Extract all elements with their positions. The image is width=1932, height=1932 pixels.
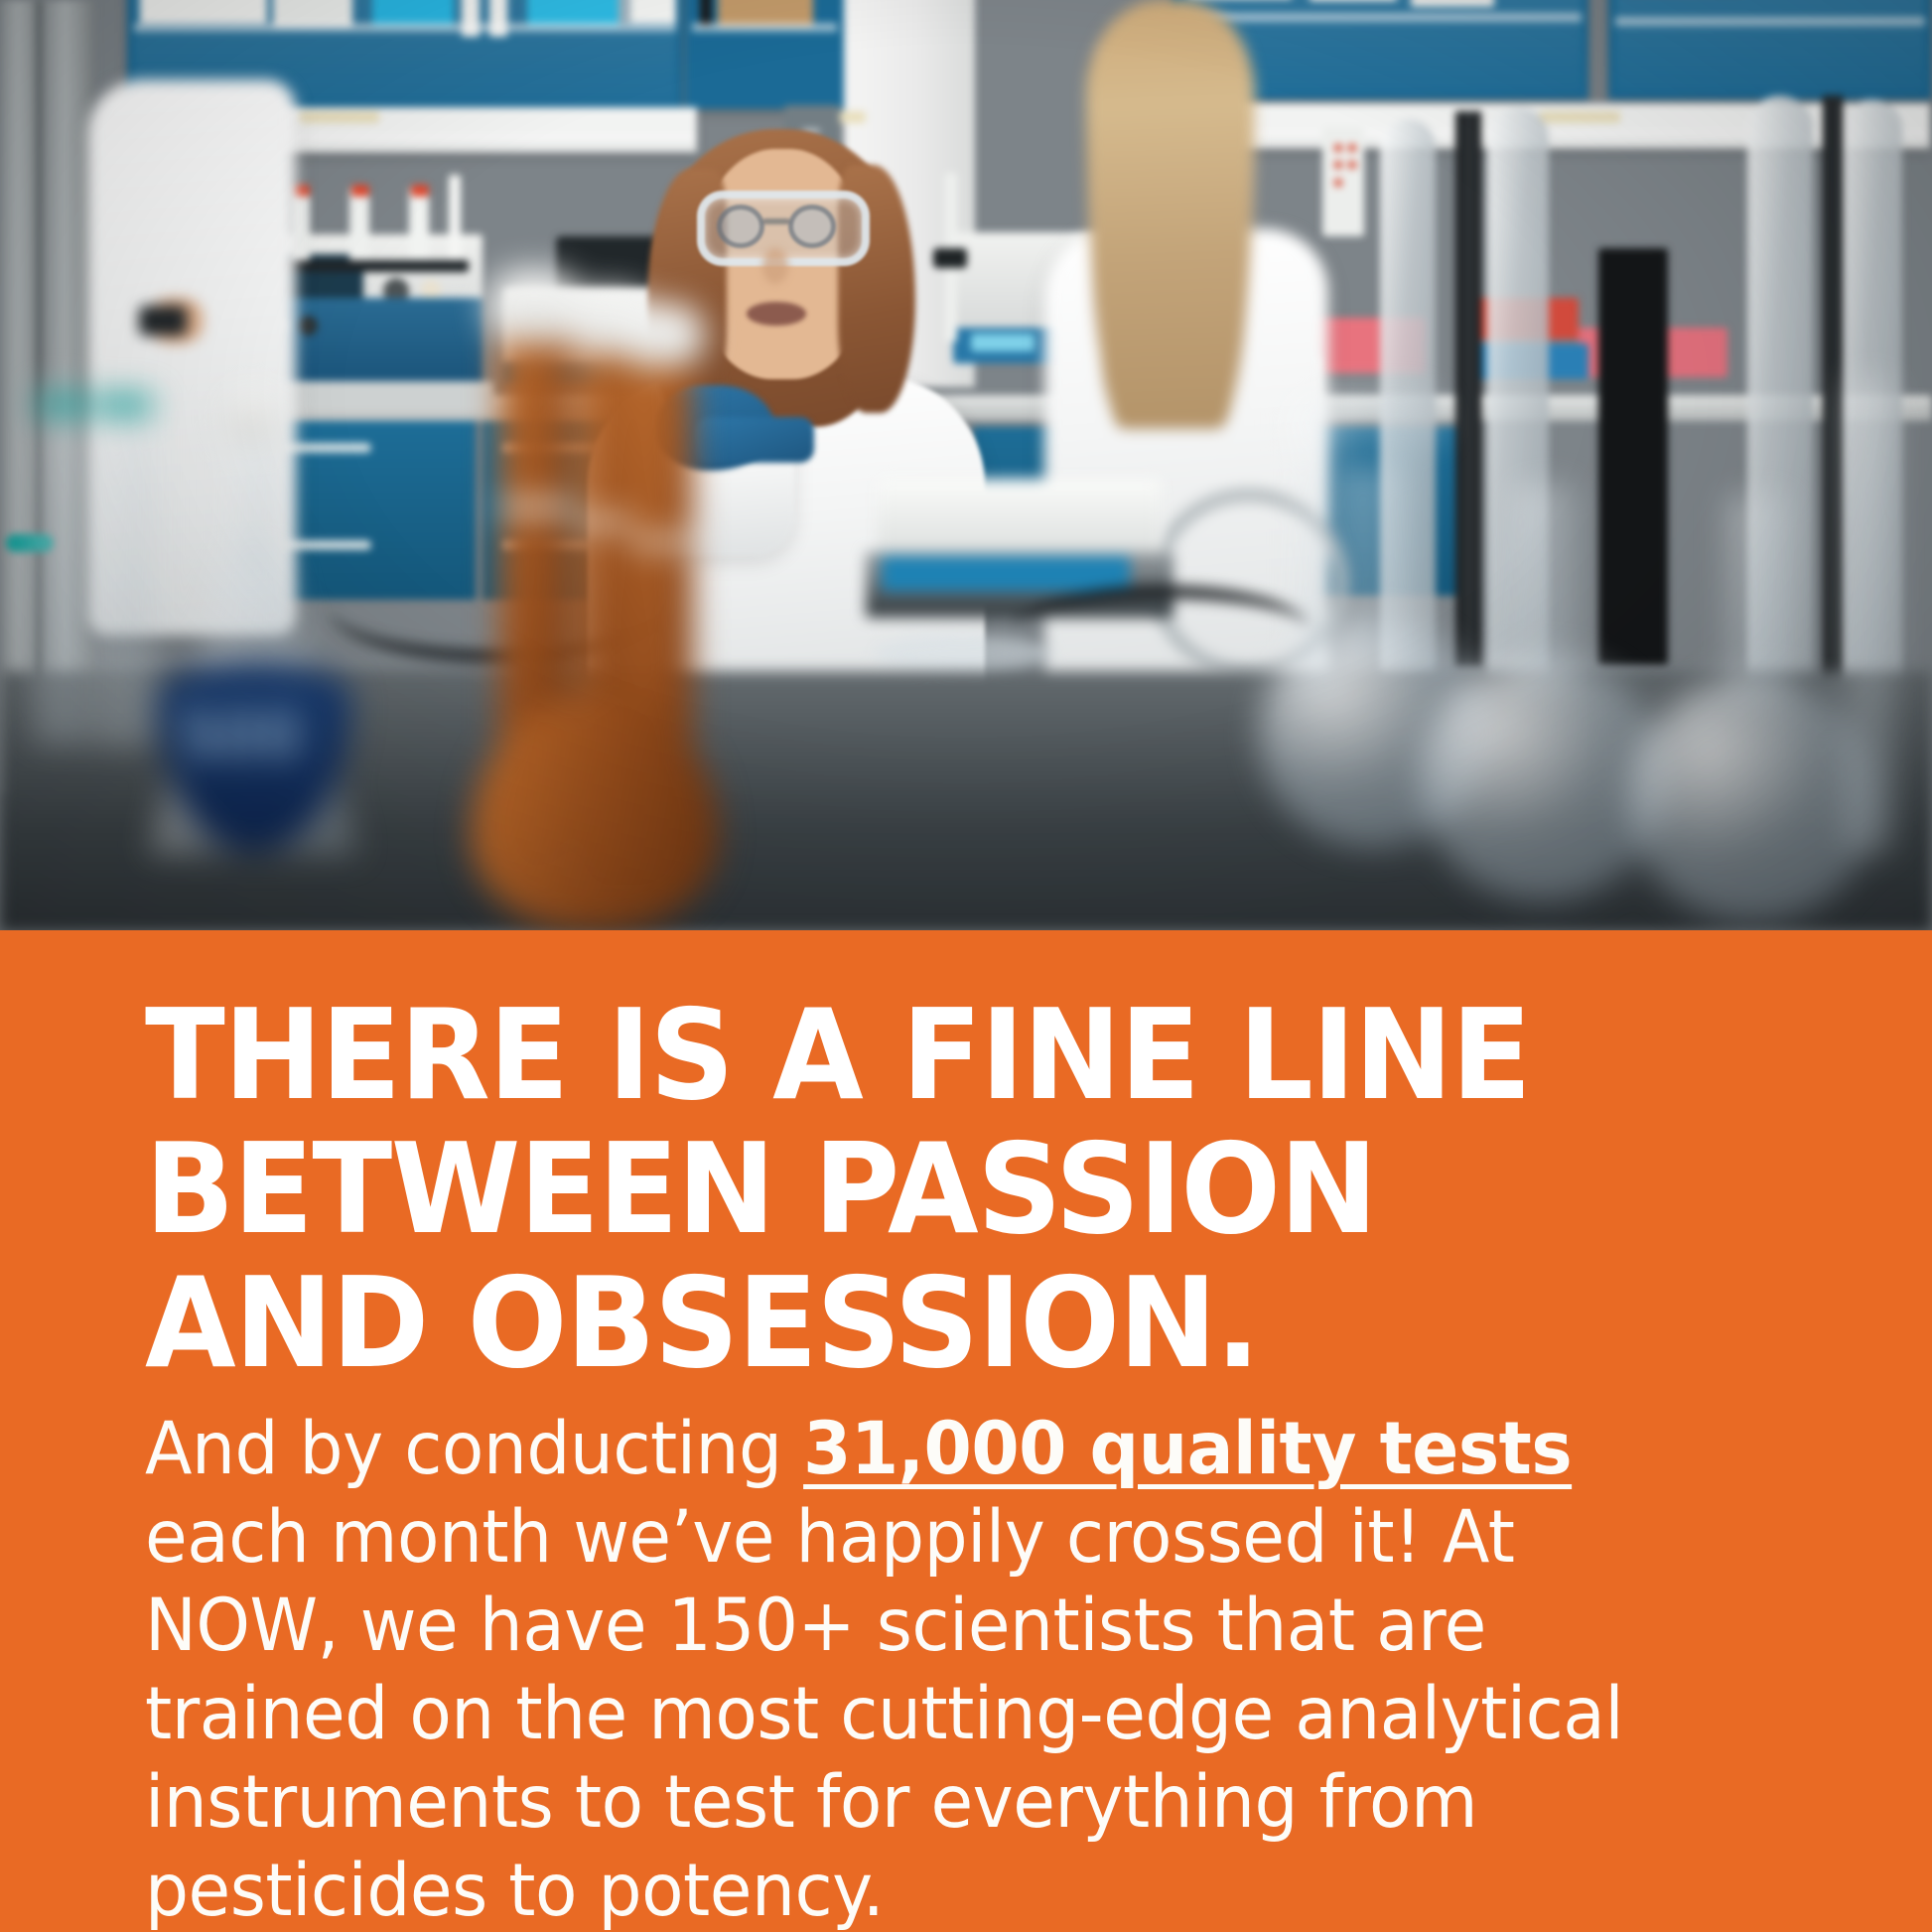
pipette-stand bbox=[349, 187, 369, 264]
flask-graduation-ring bbox=[498, 500, 572, 514]
cylinder-teal-band bbox=[36, 395, 91, 415]
cabinet-shelf bbox=[1615, 17, 1925, 26]
outlet-indicator bbox=[1348, 144, 1356, 152]
instrument-label bbox=[971, 334, 1035, 351]
pipette-stand bbox=[409, 187, 429, 264]
outlet-indicator bbox=[1334, 161, 1342, 169]
cabinet-contents bbox=[630, 0, 676, 23]
wall-cabinet-far-right bbox=[1608, 0, 1932, 99]
valance-light-left bbox=[298, 111, 379, 123]
graduated-cylinder bbox=[95, 417, 153, 745]
balance-instrument bbox=[878, 479, 1162, 558]
instrument-indicator bbox=[298, 316, 318, 336]
flask-neck bbox=[1346, 467, 1398, 655]
quality-tests-highlight: 31,000 quality tests bbox=[803, 1407, 1572, 1491]
outlet-indicator bbox=[1334, 179, 1342, 187]
cabinet-shelf bbox=[134, 23, 676, 32]
body-text-lead: And by conducting bbox=[145, 1407, 803, 1491]
equipment-rack-rail bbox=[1455, 111, 1481, 667]
cabinet-glass bbox=[1615, 0, 1925, 92]
flask-graduation-ring bbox=[631, 536, 693, 548]
condenser-arm bbox=[1291, 393, 1440, 437]
orange-text-panel: THERE IS A FINE LINE BETWEEN PASSION AND… bbox=[0, 930, 1932, 1932]
eyeglass-lens-left bbox=[717, 205, 764, 248]
pipette-tip bbox=[351, 185, 369, 197]
nitrile-glove-fingers bbox=[695, 417, 814, 463]
handheld-device bbox=[139, 306, 187, 336]
cabinet-contents bbox=[1411, 0, 1494, 7]
round-bottom-flask bbox=[1628, 675, 1876, 923]
cylinder-teal-band bbox=[97, 395, 153, 415]
flask-stopper bbox=[224, 389, 280, 441]
glass-rod bbox=[1847, 377, 1892, 854]
wall-cabinet-center bbox=[685, 0, 844, 109]
promo-poster: 500 bbox=[0, 0, 1932, 1932]
valance-light-far-right bbox=[1539, 111, 1620, 123]
flask-neck bbox=[1729, 496, 1787, 695]
instrument-knob bbox=[421, 280, 441, 300]
pipette-tip bbox=[411, 185, 429, 197]
pipette-stand bbox=[449, 175, 461, 264]
cabinet-shelf bbox=[1178, 13, 1582, 22]
cable bbox=[1013, 586, 1311, 675]
page-title: THERE IS A FINE LINE BETWEEN PASSION AND… bbox=[145, 988, 1731, 1390]
outlet-indicator bbox=[1334, 144, 1342, 152]
petri-dish bbox=[874, 635, 1052, 671]
hero-photo: 500 bbox=[0, 0, 1932, 930]
outlet-indicator bbox=[1348, 161, 1356, 169]
scientist-right-hair bbox=[1086, 0, 1255, 429]
flask-stopper bbox=[620, 304, 705, 367]
cabinet-contents bbox=[140, 0, 267, 23]
eyeglass-lens-right bbox=[788, 205, 836, 248]
shelf-rack-dark bbox=[1598, 248, 1668, 665]
condenser-tube bbox=[1299, 401, 1338, 699]
flask-neck bbox=[232, 427, 272, 576]
eyeglass-bridge bbox=[762, 218, 790, 224]
equipment-rack-rail bbox=[1823, 95, 1843, 691]
flask-neck bbox=[1517, 486, 1573, 685]
mouth bbox=[747, 302, 806, 326]
body-paragraph: And by conducting 31,000 quality tests e… bbox=[145, 1405, 1722, 1932]
cabinet-shelf bbox=[692, 23, 837, 32]
nose bbox=[762, 248, 788, 284]
wall-outlet-panel bbox=[1322, 127, 1364, 236]
lab-scene: 500 bbox=[0, 0, 1932, 930]
body-text-tail: each month we’ve happily crossed it! At … bbox=[145, 1495, 1623, 1932]
graduated-cylinder bbox=[36, 385, 87, 743]
flask-volume-label: 500 bbox=[181, 695, 303, 774]
balance-blue-panel bbox=[882, 556, 1130, 592]
rod-clamp bbox=[933, 248, 967, 268]
cabinet-contents bbox=[1310, 0, 1397, 1]
